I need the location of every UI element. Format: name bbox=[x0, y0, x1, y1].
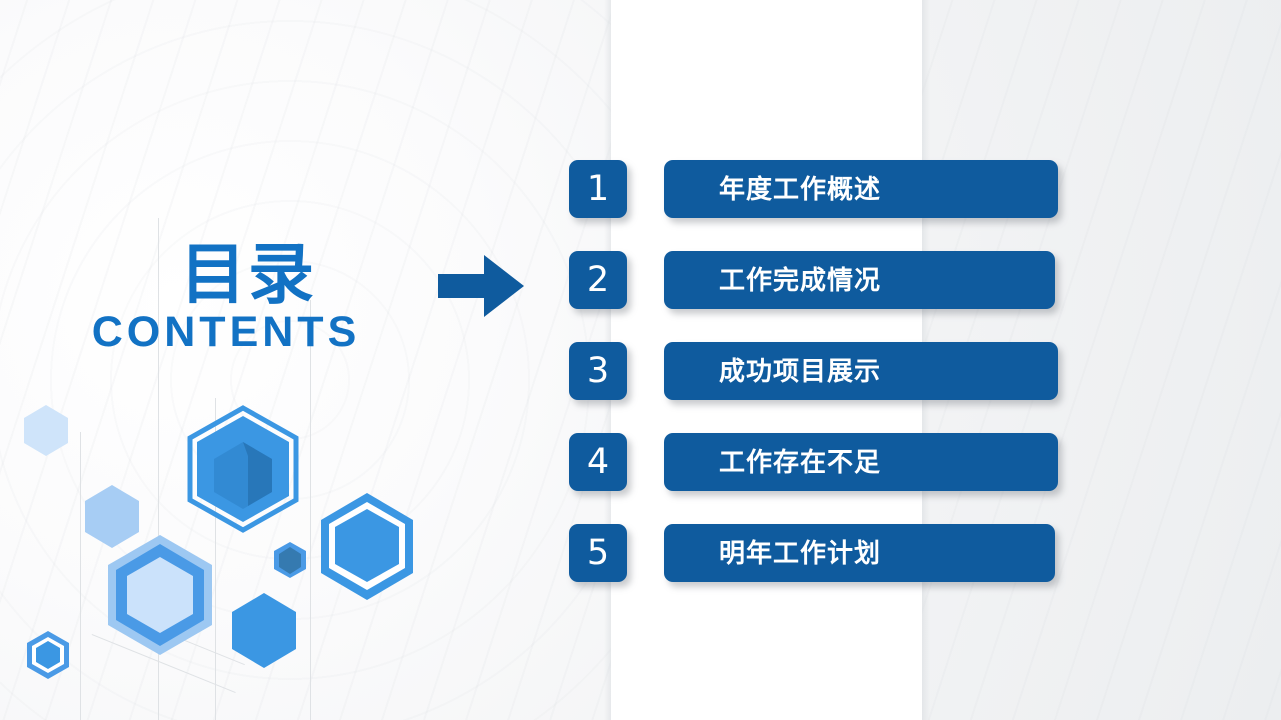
hexagon-cluster bbox=[0, 390, 460, 720]
page-title-cn: 目录 bbox=[26, 238, 470, 310]
item-number-badge: 2 bbox=[569, 251, 627, 309]
list-item[interactable]: 3 成功项目展示 bbox=[569, 342, 1069, 400]
hexagon-big-outlined bbox=[190, 408, 296, 530]
item-label: 年度工作概述 bbox=[719, 160, 881, 218]
item-bar[interactable]: 明年工作计划 bbox=[664, 524, 1055, 582]
item-label: 工作存在不足 bbox=[719, 433, 881, 491]
item-number-badge: 3 bbox=[569, 342, 627, 400]
item-label: 明年工作计划 bbox=[719, 524, 881, 582]
contents-list: 1 年度工作概述 2 工作完成情况 3 成功项目展示 4 工作存在不足 5 bbox=[569, 160, 1069, 615]
item-bar[interactable]: 工作存在不足 bbox=[664, 433, 1058, 491]
list-item[interactable]: 1 年度工作概述 bbox=[569, 160, 1069, 218]
item-bar[interactable]: 成功项目展示 bbox=[664, 342, 1058, 400]
item-label: 工作完成情况 bbox=[719, 251, 881, 309]
item-label: 成功项目展示 bbox=[719, 342, 881, 400]
list-item[interactable]: 2 工作完成情况 bbox=[569, 251, 1069, 309]
slide-canvas: 目录 CONTENTS 1 年度工作概述 2 工作完成情况 3 成功项目展示 bbox=[0, 0, 1281, 720]
item-number-badge: 4 bbox=[569, 433, 627, 491]
item-bar[interactable]: 年度工作概述 bbox=[664, 160, 1058, 218]
hexagon-pale-small bbox=[24, 405, 68, 456]
list-item[interactable]: 4 工作存在不足 bbox=[569, 433, 1069, 491]
hexagon-dark-tiny bbox=[274, 542, 306, 578]
hexagon-ring-small bbox=[27, 631, 69, 679]
arrow-right-icon bbox=[438, 255, 524, 317]
hexagon-ring-light bbox=[108, 535, 212, 655]
title-block: 目录 CONTENTS bbox=[0, 238, 470, 356]
item-bar[interactable]: 工作完成情况 bbox=[664, 251, 1055, 309]
item-number-badge: 1 bbox=[569, 160, 627, 218]
page-title-en: CONTENTS bbox=[0, 308, 470, 356]
hexagon-light-medium bbox=[85, 485, 139, 548]
hexagon-solid-blue bbox=[232, 593, 296, 668]
item-number-badge: 5 bbox=[569, 524, 627, 582]
hexagon-ring-right bbox=[321, 493, 413, 600]
list-item[interactable]: 5 明年工作计划 bbox=[569, 524, 1069, 582]
